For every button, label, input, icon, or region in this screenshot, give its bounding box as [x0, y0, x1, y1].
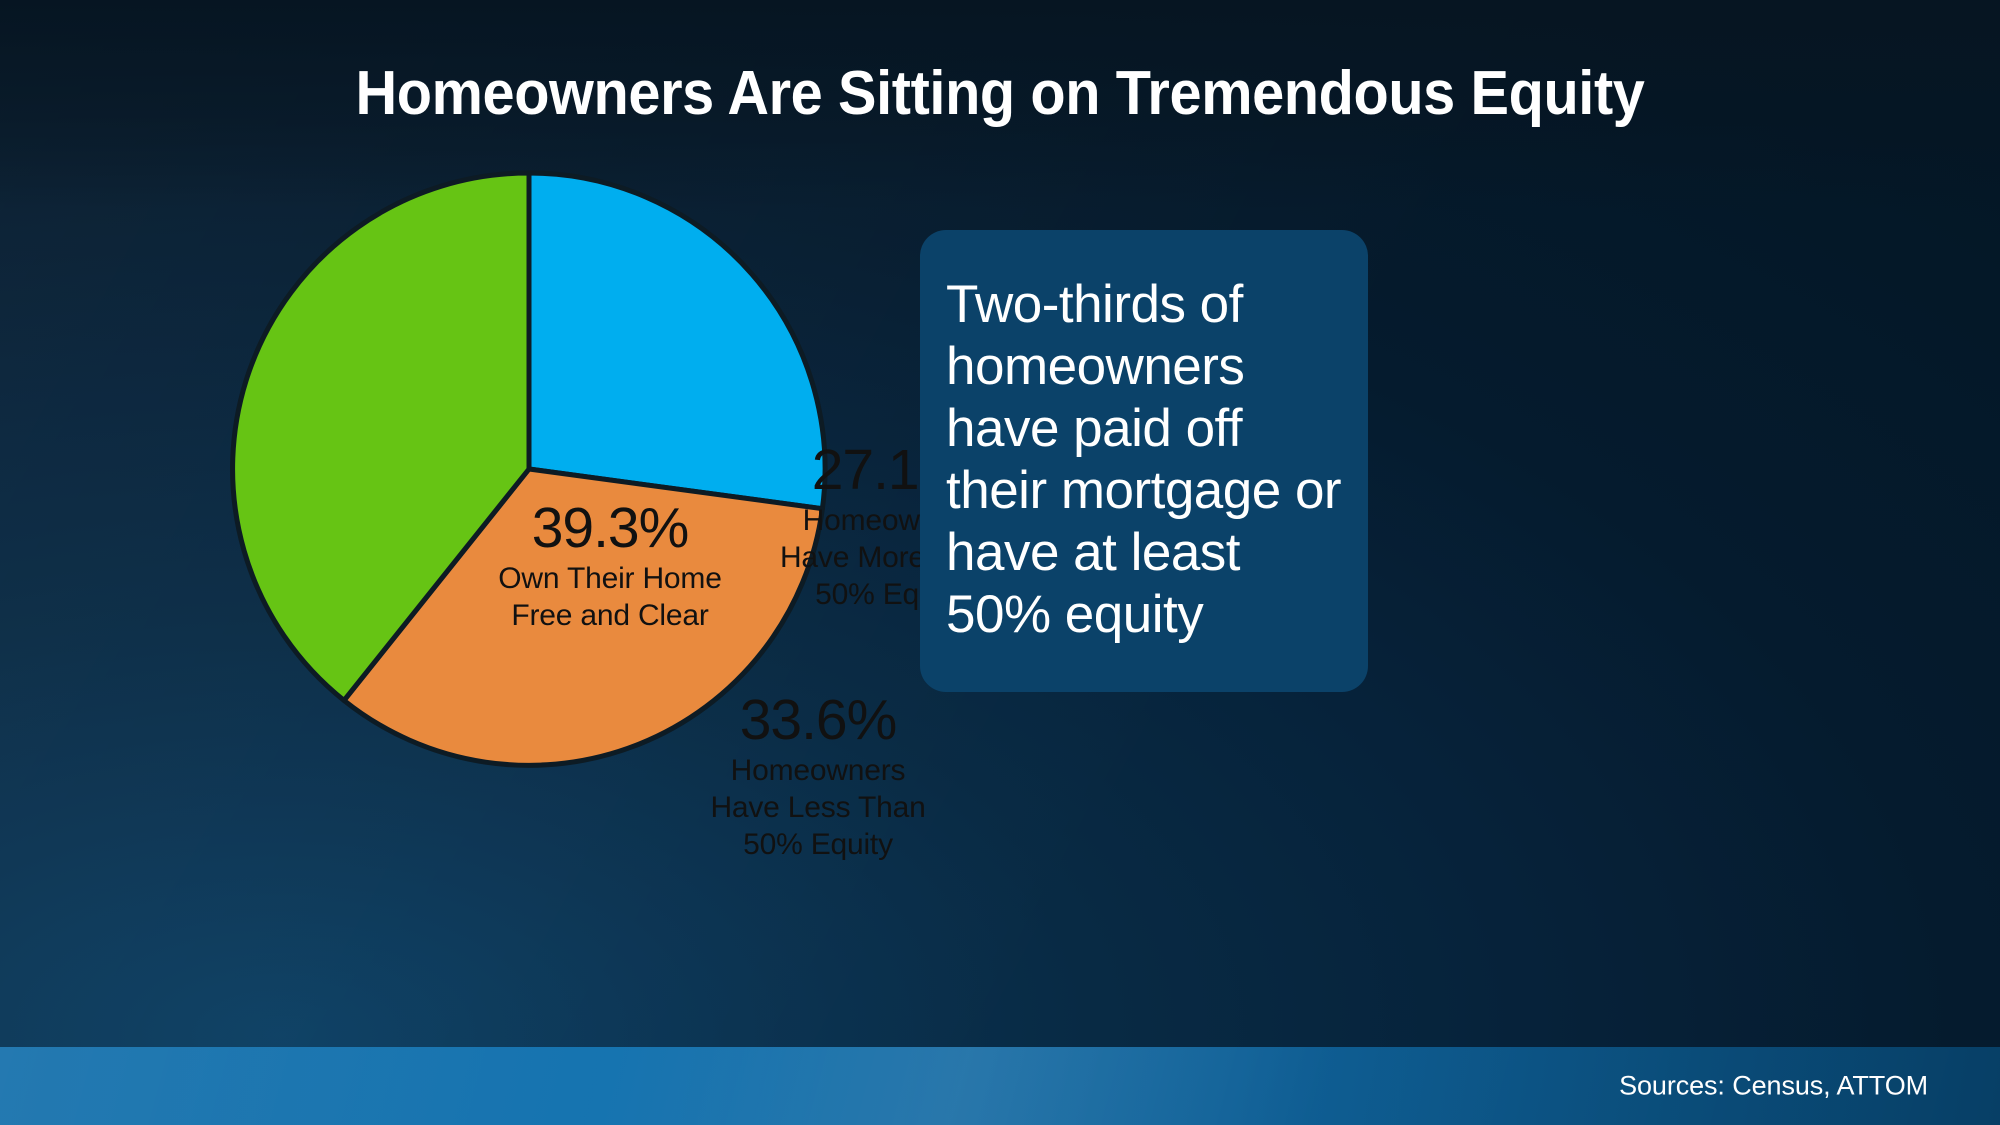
pie-label-orange-line3: 50% Equity — [668, 827, 968, 864]
pie-label-orange-line2: Have Less Than — [668, 790, 968, 827]
callout-text: Two-thirds of homeowners have paid off t… — [946, 274, 1350, 646]
footer-bar: Sources: Census, ATTOM — [0, 1047, 2000, 1125]
sources-label: Sources: Census, ATTOM — [1619, 1071, 1928, 1102]
infographic-slide: Homeowners Are Sitting on Tremendous Equ… — [0, 0, 2000, 1125]
pie-slice-blue — [529, 173, 825, 509]
pie-chart-svg — [228, 168, 830, 770]
page-title: Homeowners Are Sitting on Tremendous Equ… — [70, 58, 1930, 129]
callout-box: Two-thirds of homeowners have paid off t… — [920, 230, 1368, 692]
pie-chart: 39.3% Own Their Home Free and Clear 27.1… — [228, 168, 830, 770]
